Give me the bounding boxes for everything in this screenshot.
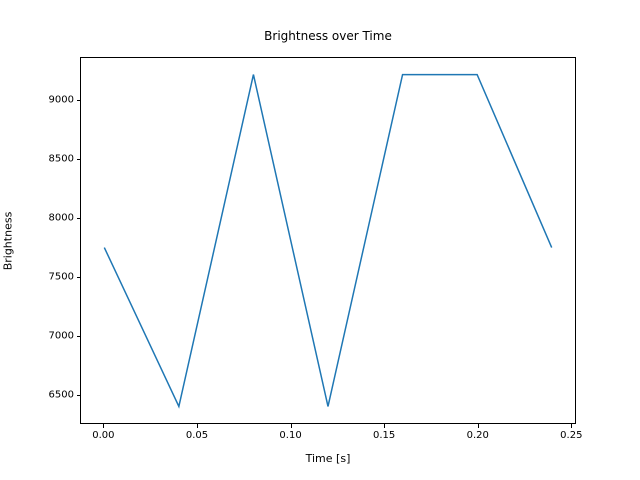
x-tick-mark <box>197 424 198 428</box>
y-axis-label: Brightness <box>2 211 15 270</box>
x-tick-label: 0.15 <box>354 430 414 441</box>
x-tick-label: 0.20 <box>448 430 508 441</box>
x-tick-label: 0.00 <box>73 430 133 441</box>
x-tick-mark <box>103 424 104 428</box>
x-tick-mark <box>571 424 572 428</box>
plot-area <box>80 57 576 424</box>
x-axis-label: Time [s] <box>80 452 576 465</box>
y-tick-label: 6500 <box>14 390 74 401</box>
chart-title: Brightness over Time <box>80 29 576 43</box>
y-tick-label: 9000 <box>14 94 74 105</box>
y-tick-label: 7500 <box>14 272 74 283</box>
x-tick-label: 0.05 <box>167 430 227 441</box>
brightness-line <box>104 75 551 407</box>
x-tick-label: 0.25 <box>541 430 601 441</box>
y-axis-label-container: Brightness <box>0 57 16 424</box>
x-tick-label: 0.10 <box>261 430 321 441</box>
y-tick-label: 7000 <box>14 331 74 342</box>
x-tick-mark <box>291 424 292 428</box>
data-line-series <box>81 58 575 423</box>
y-tick-label: 8000 <box>14 213 74 224</box>
x-tick-mark <box>384 424 385 428</box>
y-tick-label: 8500 <box>14 153 74 164</box>
chart-figure: Brightness over Time Brightness 65007000… <box>0 0 640 480</box>
x-tick-mark <box>478 424 479 428</box>
